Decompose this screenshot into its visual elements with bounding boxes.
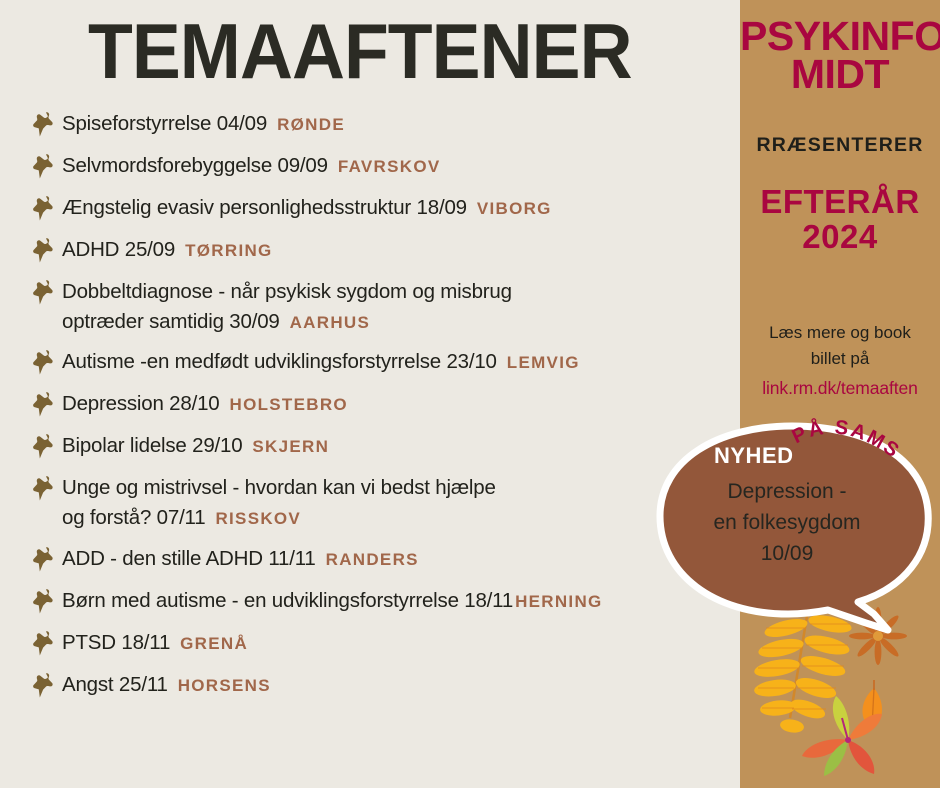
booking-text: Læs mere og book billet på [744,320,936,371]
event-item[interactable]: Autisme -en medfødt udviklingsforstyrrel… [28,346,738,378]
pushpin-icon [28,109,62,139]
event-title-line: og forstå? 07/11RISSKOV [62,503,738,533]
event-item[interactable]: Selvmordsforebyggelse 09/09FAVRSKOV [28,150,738,182]
pushpin-icon [28,235,62,265]
year-label: 2024 [740,220,940,255]
event-location: AARHUS [290,313,371,332]
event-title-line: Spiseforstyrrelse 04/09RØNDE [62,109,738,139]
season-label: EFTERÅR [760,183,919,220]
event-item[interactable]: Børn med autisme - en udviklingsforstyrr… [28,585,738,617]
poster-canvas: PSYKINFO MIDT RRÆSENTERER EFTERÅR 2024 L… [0,0,940,788]
event-item[interactable]: Spiseforstyrrelse 04/09RØNDE [28,108,738,140]
event-item[interactable]: Unge og mistrivsel - hvordan kan vi beds… [28,472,738,532]
event-text: Dobbeltdiagnose - når psykisk sygdom og … [62,276,738,336]
event-location: HORSENS [178,676,271,695]
booking-url[interactable]: link.rm.dk/temaaften [740,378,940,399]
event-text: Selvmordsforebyggelse 09/09FAVRSKOV [62,150,738,181]
event-text: Depression 28/10HOLSTEBRO [62,388,738,419]
event-item[interactable]: Ængstelig evasiv personlighedsstruktur 1… [28,192,738,224]
sidebar-panel: PSYKINFO MIDT RRÆSENTERER EFTERÅR 2024 L… [740,0,940,788]
event-location: RISSKOV [215,509,301,528]
event-list: Spiseforstyrrelse 04/09RØNDESelvmordsfor… [28,108,738,711]
pushpin-icon [28,586,62,616]
event-title-line: ADHD 25/09TØRRING [62,235,738,265]
pushpin-icon [28,544,62,574]
event-title-line: Ængstelig evasiv personlighedsstruktur 1… [62,193,738,223]
event-text: Bipolar lidelse 29/10SKJERN [62,430,738,461]
event-item[interactable]: Depression 28/10HOLSTEBRO [28,388,738,420]
event-location: VIBORG [477,199,552,218]
event-location: FAVRSKOV [338,157,441,176]
event-location: HOLSTEBRO [230,395,348,414]
brand-line-2: MIDT [740,56,940,94]
event-location: HERNING [515,592,603,611]
brand-logo: PSYKINFO MIDT [740,18,940,93]
event-text: PTSD 18/11GRENÅ [62,627,738,658]
event-title-line: Autisme -en medfødt udviklingsforstyrrel… [62,347,738,377]
event-title-line: Dobbeltdiagnose - når psykisk sygdom og … [62,277,738,307]
event-item[interactable]: ADD - den stille ADHD 11/11RANDERS [28,543,738,575]
pushpin-icon [28,193,62,223]
event-title-line: Børn med autisme - en udviklingsforstyrr… [62,586,738,616]
event-item[interactable]: Dobbeltdiagnose - når psykisk sygdom og … [28,276,738,336]
event-text: Angst 25/11HORSENS [62,669,738,700]
event-text: ADHD 25/09TØRRING [62,234,738,265]
event-text: Autisme -en medfødt udviklingsforstyrrel… [62,346,738,377]
season-heading: EFTERÅR 2024 [740,185,940,255]
page-title: TEMAAFTENER [88,6,632,97]
event-text: ADD - den stille ADHD 11/11RANDERS [62,543,738,574]
booking-line-2: billet på [744,346,936,372]
event-title-line: Unge og mistrivsel - hvordan kan vi beds… [62,473,738,503]
event-location: SKJERN [252,437,329,456]
pushpin-icon [28,431,62,461]
event-location: RANDERS [326,550,419,569]
pushpin-icon [28,628,62,658]
event-location: RØNDE [277,115,345,134]
event-title-line: ADD - den stille ADHD 11/11RANDERS [62,544,738,574]
event-text: Spiseforstyrrelse 04/09RØNDE [62,108,738,139]
pushpin-icon [28,347,62,377]
booking-line-1: Læs mere og book [744,320,936,346]
pushpin-icon [28,670,62,700]
pushpin-icon [28,389,62,419]
event-title-line: PTSD 18/11GRENÅ [62,628,738,658]
event-item[interactable]: Bipolar lidelse 29/10SKJERN [28,430,738,462]
event-title-line: Selvmordsforebyggelse 09/09FAVRSKOV [62,151,738,181]
event-item[interactable]: ADHD 25/09TØRRING [28,234,738,266]
pushpin-icon [28,151,62,181]
event-item[interactable]: Angst 25/11HORSENS [28,669,738,701]
pushpin-icon [28,277,62,307]
event-text: Ængstelig evasiv personlighedsstruktur 1… [62,192,738,223]
event-item[interactable]: PTSD 18/11GRENÅ [28,627,738,659]
event-title-line: optræder samtidig 30/09AARHUS [62,307,738,337]
event-text: Børn med autisme - en udviklingsforstyrr… [62,585,738,616]
event-text: Unge og mistrivsel - hvordan kan vi beds… [62,472,738,532]
presents-label: RRÆSENTERER [740,134,940,157]
event-title-line: Depression 28/10HOLSTEBRO [62,389,738,419]
pushpin-icon [28,473,62,503]
event-location: LEMVIG [507,353,580,372]
event-location: GRENÅ [180,634,248,653]
event-location: TØRRING [185,241,272,260]
event-title-line: Bipolar lidelse 29/10SKJERN [62,431,738,461]
event-title-line: Angst 25/11HORSENS [62,670,738,700]
